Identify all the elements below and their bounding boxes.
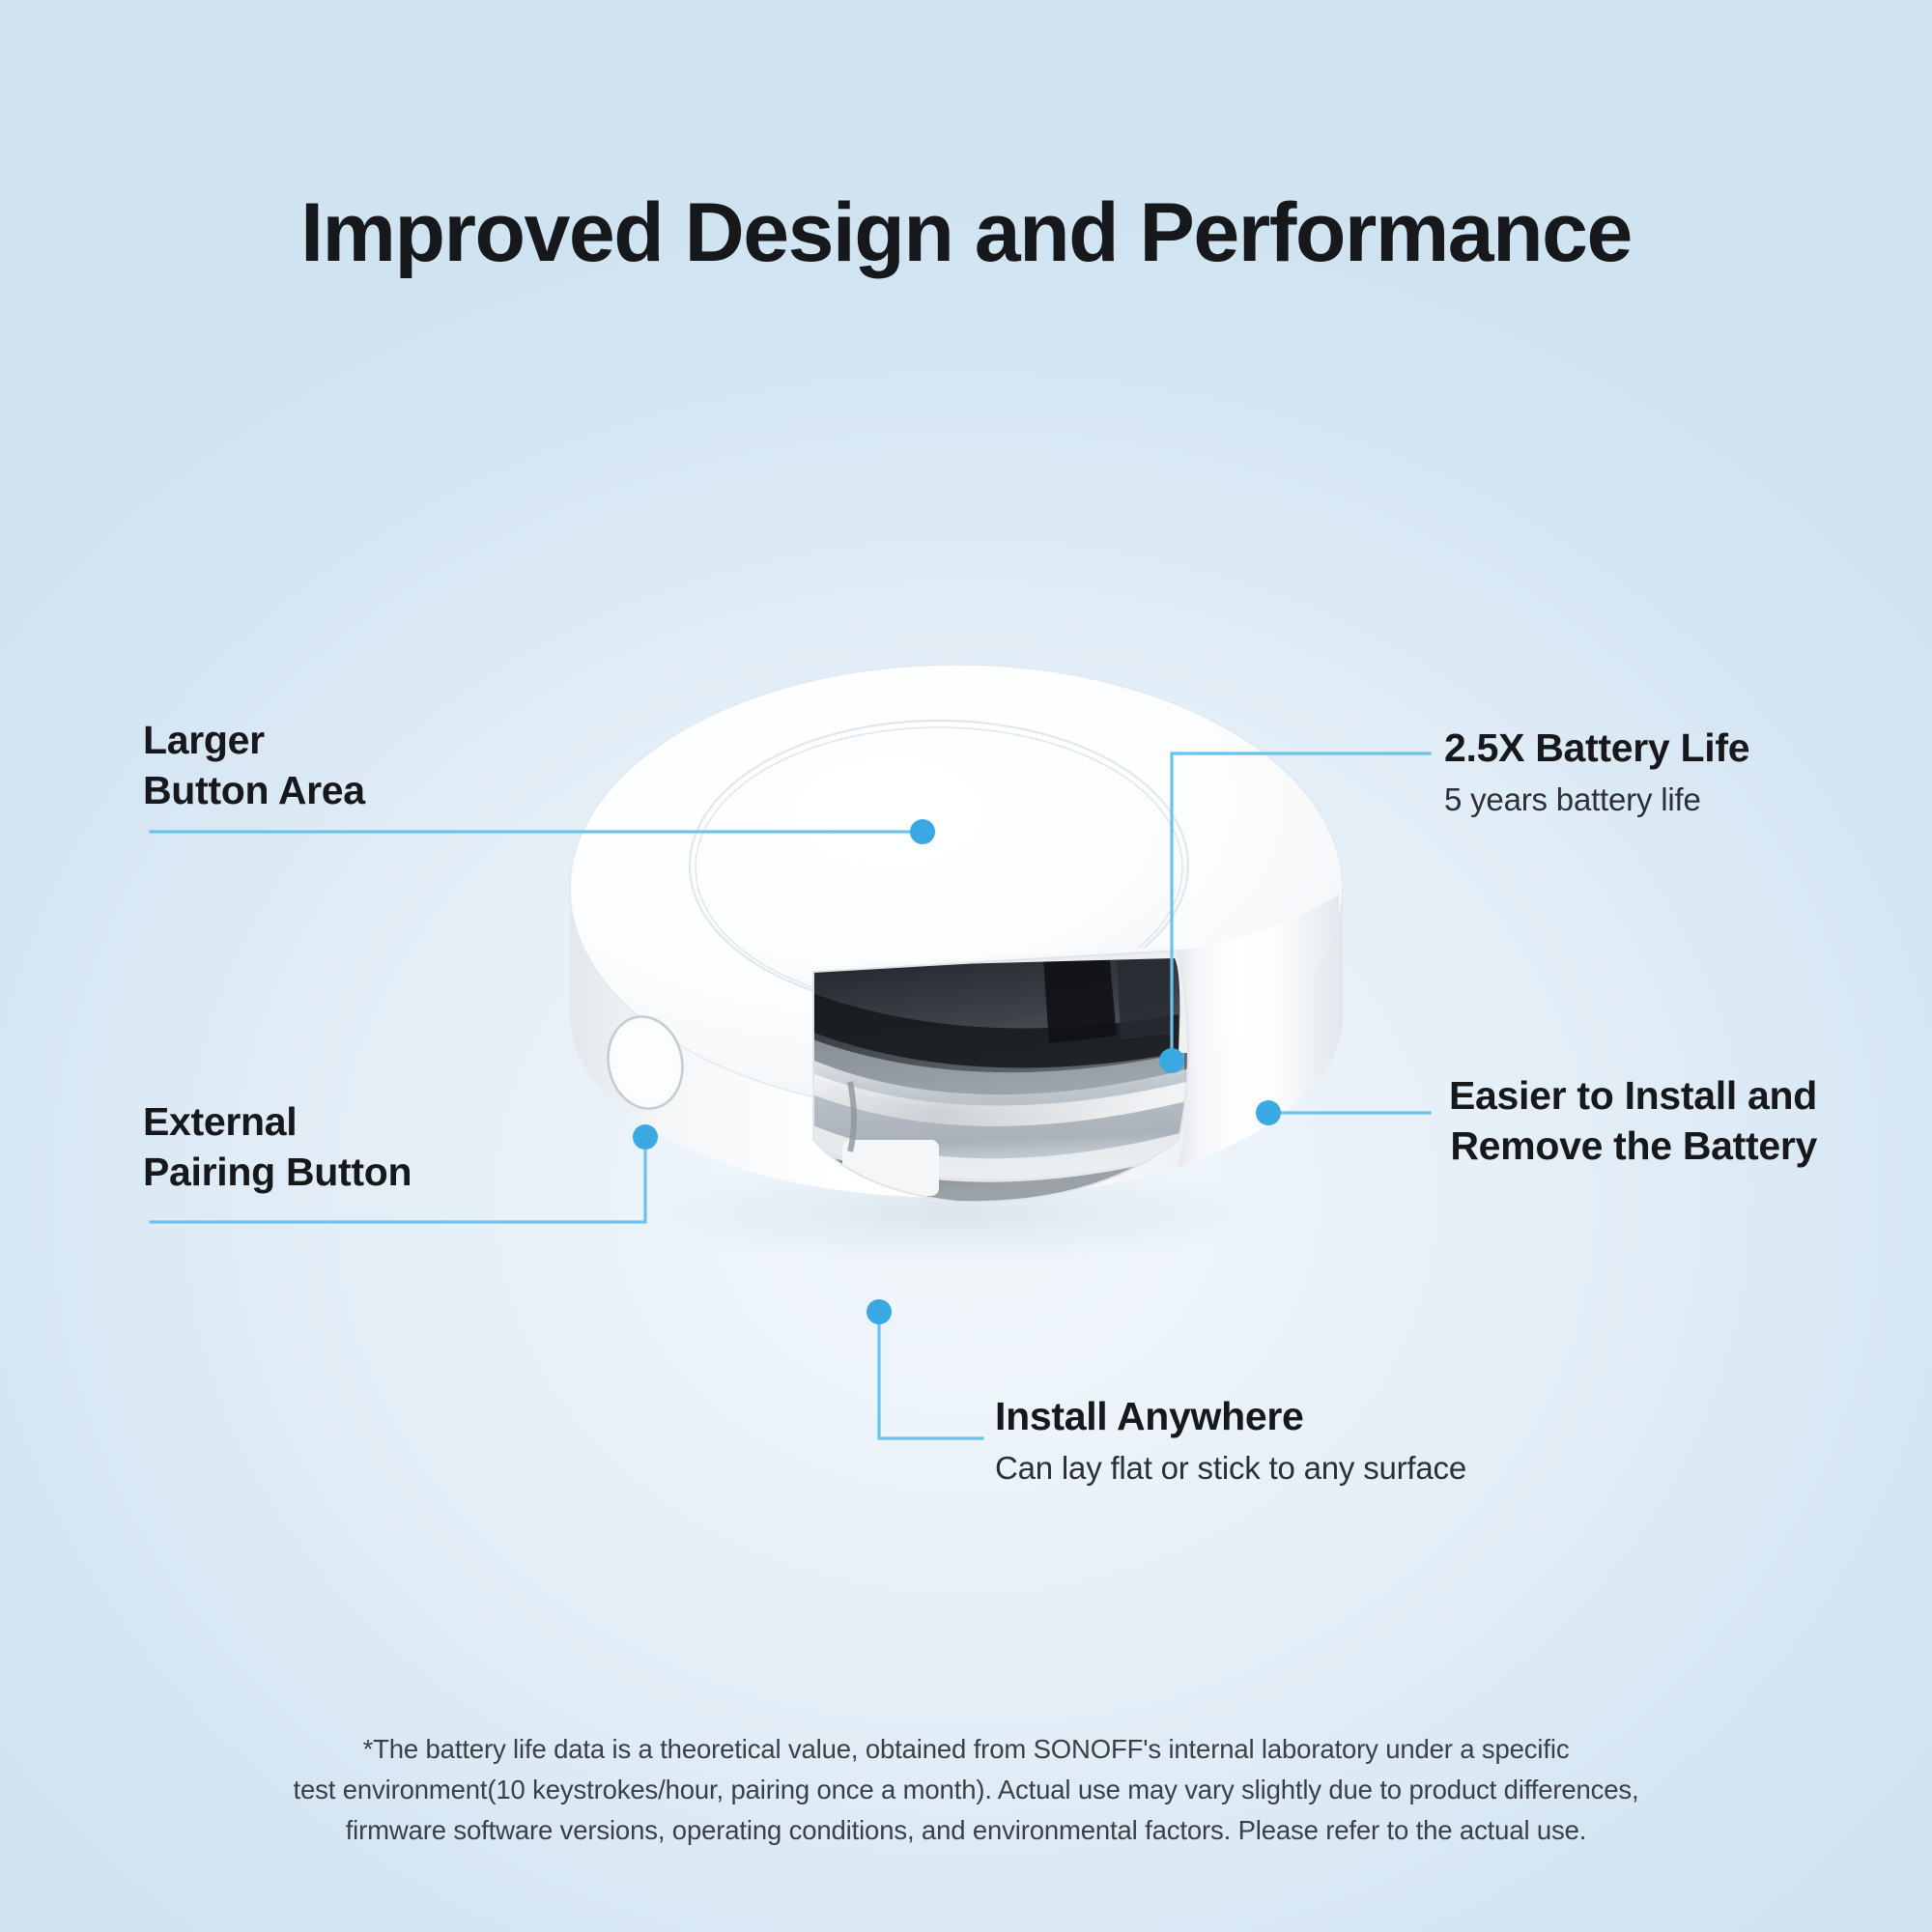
callout-title: 2.5X Battery Life: [1444, 723, 1749, 773]
callout-larger-button-area: Larger Button Area: [143, 715, 365, 816]
callout-subtitle: 5 years battery life: [1444, 780, 1749, 821]
callout-external-pairing-button: External Pairing Button: [143, 1096, 412, 1198]
callout-subtitle: Can lay flat or stick to any surface: [995, 1448, 1466, 1490]
leader-install-anywhere: [879, 1317, 982, 1438]
callout-battery-life: 2.5X Battery Life 5 years battery life: [1444, 723, 1749, 821]
product-image: [502, 599, 1430, 1333]
callout-easier-battery: Easier to Install and Remove the Battery: [1449, 1070, 1817, 1172]
footnote-line-3: firmware software versions, operating co…: [0, 1810, 1932, 1851]
infographic-canvas: Improved Design and Performance: [0, 0, 1932, 1932]
callout-title: Larger Button Area: [143, 715, 365, 816]
footnote-line-2: test environment(10 keystrokes/hour, pai…: [0, 1770, 1932, 1810]
callout-title: Install Anywhere: [995, 1391, 1466, 1441]
footnote-line-1: *The battery life data is a theoretical …: [0, 1729, 1932, 1770]
footnote-disclaimer: *The battery life data is a theoretical …: [0, 1729, 1932, 1850]
callout-install-anywhere: Install Anywhere Can lay flat or stick t…: [995, 1391, 1466, 1490]
callout-title: External Pairing Button: [143, 1096, 412, 1198]
callout-title: Easier to Install and Remove the Battery: [1449, 1070, 1817, 1172]
page-title: Improved Design and Performance: [0, 185, 1932, 281]
